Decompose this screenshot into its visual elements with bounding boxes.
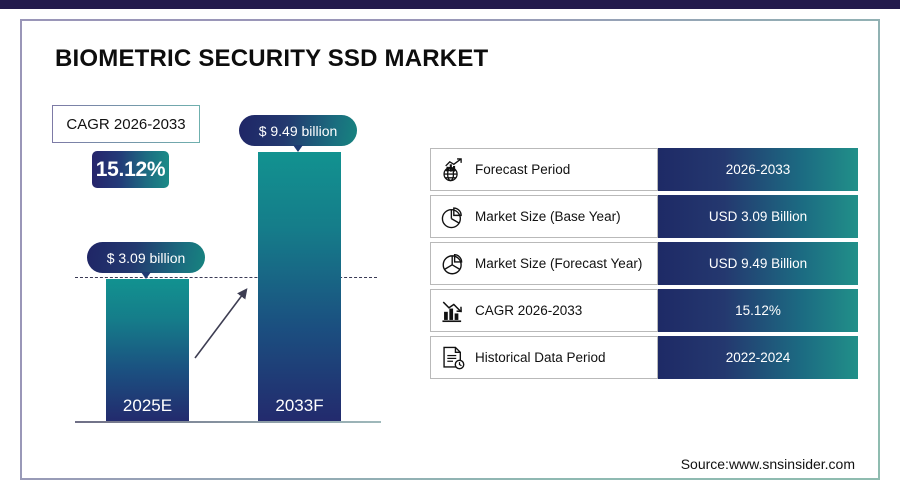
table-row: CAGR 2026-2033 15.12%: [430, 289, 858, 332]
table-row: Forecast Period 2026-2033: [430, 148, 858, 191]
metric-value: USD 3.09 Billion: [709, 209, 807, 224]
metric-value: 2022-2024: [726, 350, 791, 365]
chart-baseline-axis: [75, 421, 381, 423]
bar-chart-trend-icon: [440, 298, 466, 324]
table-row: Market Size (Base Year) USD 3.09 Billion: [430, 195, 858, 238]
pie-chart-icon: [440, 204, 466, 230]
metrics-table: Forecast Period 2026-2033 Market Size (B…: [430, 148, 858, 383]
metric-value: 15.12%: [735, 303, 781, 318]
metric-label-cell: Historical Data Period: [430, 336, 658, 379]
metric-label: CAGR 2026-2033: [475, 303, 582, 318]
source-attribution: Source:www.snsinsider.com: [681, 456, 855, 472]
metric-label-cell: CAGR 2026-2033: [430, 289, 658, 332]
globe-growth-icon: [440, 157, 466, 183]
bar-value-pill-2033f: $ 9.49 billion: [239, 115, 357, 146]
metric-label: Market Size (Base Year): [475, 209, 621, 224]
document-clock-icon: [440, 345, 466, 371]
growth-arrow-icon: [190, 280, 256, 364]
table-row: Historical Data Period 2022-2024: [430, 336, 858, 379]
bar-value-text-2033f: $ 9.49 billion: [259, 123, 338, 139]
metric-value: 2026-2033: [726, 162, 791, 177]
table-row: Market Size (Forecast Year) USD 9.49 Bil…: [430, 242, 858, 285]
metric-label: Market Size (Forecast Year): [475, 256, 642, 271]
metric-label: Forecast Period: [475, 162, 570, 177]
bar-2033f: [258, 152, 341, 422]
metric-value-cell: 2022-2024: [658, 336, 858, 379]
bar-category-label-2033f: 2033F: [258, 396, 341, 416]
metric-value-cell: 2026-2033: [658, 148, 858, 191]
metric-value-cell: USD 3.09 Billion: [658, 195, 858, 238]
bar-category-label-2025e: 2025E: [106, 396, 189, 416]
pie-chart-split-icon: [440, 251, 466, 277]
metric-value-cell: USD 9.49 Billion: [658, 242, 858, 285]
metric-value: USD 9.49 Billion: [709, 256, 807, 271]
bar-chart: 2025E 2033F $ 3.09 billion $ 9.49 billio…: [0, 0, 420, 461]
metric-value-cell: 15.12%: [658, 289, 858, 332]
bar-value-pill-2025e: $ 3.09 billion: [87, 242, 205, 273]
metric-label-cell: Market Size (Forecast Year): [430, 242, 658, 285]
metric-label-cell: Forecast Period: [430, 148, 658, 191]
bar-value-text-2025e: $ 3.09 billion: [107, 250, 186, 266]
metric-label: Historical Data Period: [475, 350, 606, 365]
metric-label-cell: Market Size (Base Year): [430, 195, 658, 238]
